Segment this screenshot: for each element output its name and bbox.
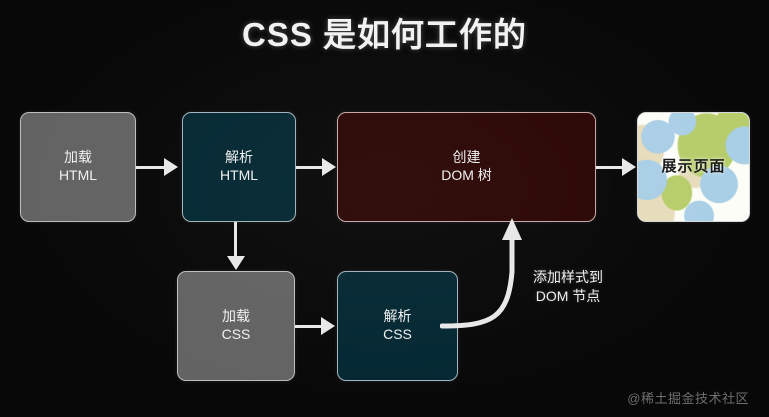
slide-canvas: CSS 是如何工作的 加载 HTML 解析 HTML 创建 DOM 树 展示页面… bbox=[0, 0, 769, 417]
node-load-html-line1: 加载 bbox=[64, 149, 92, 167]
edge-label-add-style-to-dom: 添加样式到 DOM 节点 bbox=[533, 268, 603, 306]
edge-parse-html-to-load-css bbox=[234, 222, 237, 258]
node-load-css-line2: CSS bbox=[222, 326, 251, 344]
watermark: @稀土掘金技术社区 bbox=[627, 388, 749, 407]
node-parse-css-line1: 解析 bbox=[384, 308, 412, 326]
node-parse-css-line2: CSS bbox=[383, 326, 412, 344]
arrowhead-right-icon bbox=[321, 317, 335, 335]
node-show-page-label: 展示页面 bbox=[661, 157, 725, 176]
arrowhead-right-icon bbox=[622, 158, 636, 176]
node-load-css-line1: 加载 bbox=[222, 308, 250, 326]
page-title: CSS 是如何工作的 bbox=[0, 8, 769, 56]
arrowhead-right-icon bbox=[322, 158, 336, 176]
node-load-html[interactable]: 加载 HTML bbox=[20, 112, 136, 222]
node-create-dom-line1: 创建 bbox=[453, 149, 481, 167]
edge-label-line1: 添加样式到 bbox=[533, 268, 603, 287]
node-parse-html[interactable]: 解析 HTML bbox=[182, 112, 296, 222]
node-load-css[interactable]: 加载 CSS bbox=[177, 271, 295, 381]
node-parse-html-line2: HTML bbox=[220, 167, 258, 185]
node-create-dom-line2: DOM 树 bbox=[441, 167, 492, 185]
edge-parse-html-to-create-dom bbox=[296, 166, 324, 169]
node-load-html-line2: HTML bbox=[59, 167, 97, 185]
node-show-page[interactable]: 展示页面 bbox=[637, 112, 750, 222]
arrowhead-right-icon bbox=[164, 158, 178, 176]
arrowhead-up-icon bbox=[502, 218, 522, 240]
edge-create-dom-to-show-page bbox=[596, 166, 624, 169]
edge-label-line2: DOM 节点 bbox=[533, 287, 603, 306]
arrowhead-down-icon bbox=[227, 256, 245, 270]
node-parse-html-line1: 解析 bbox=[225, 149, 253, 167]
